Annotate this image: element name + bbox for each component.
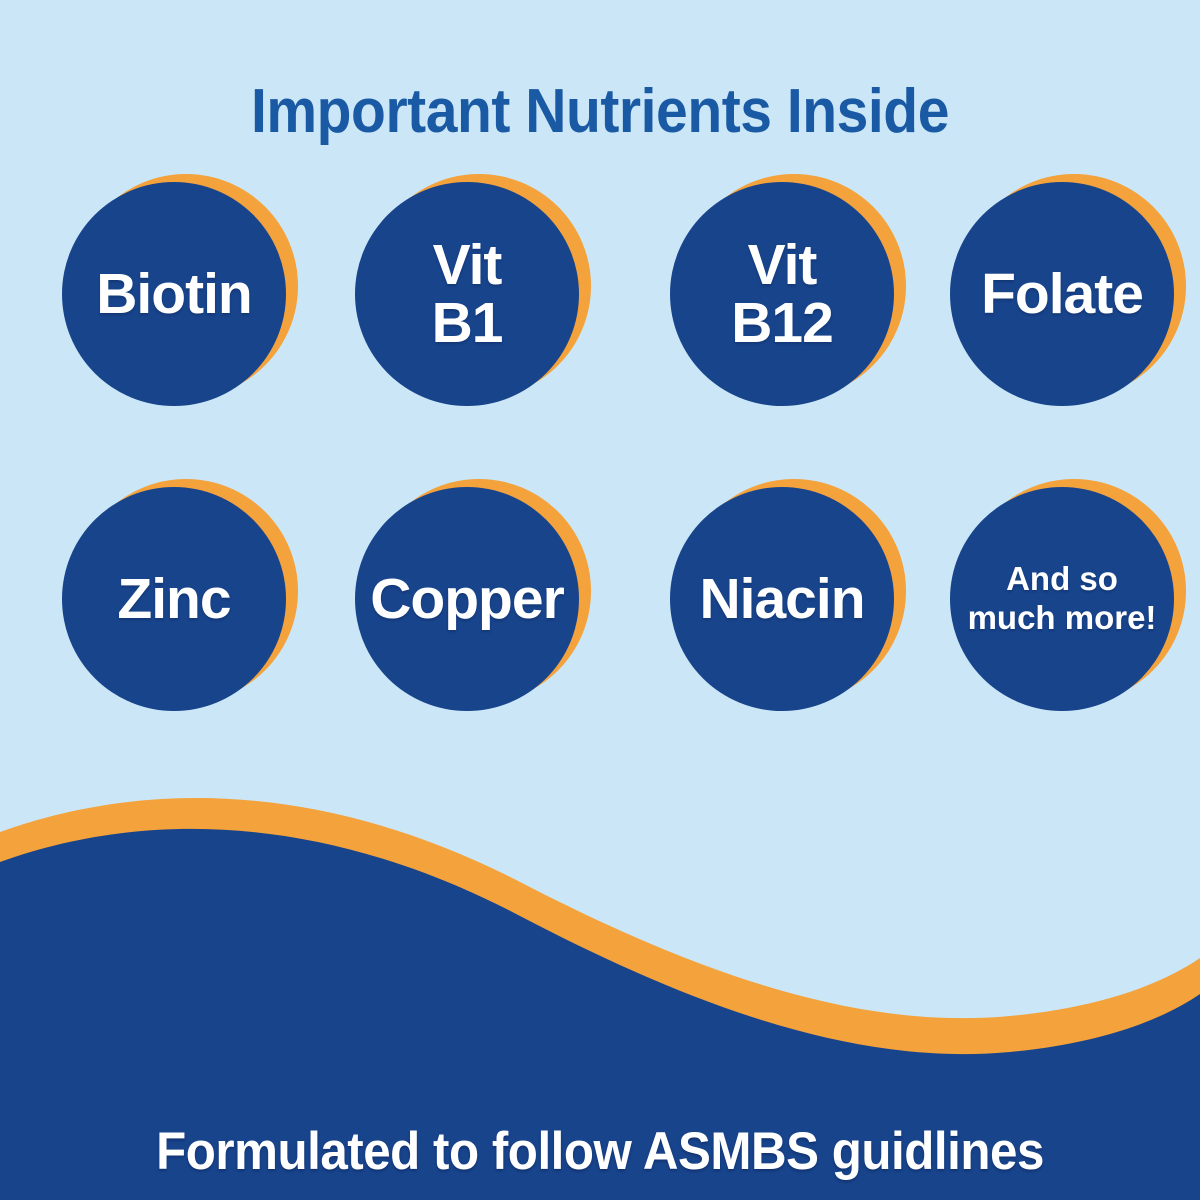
nutrient-infographic: Important Nutrients Inside Biotin Vit B1… (0, 0, 1200, 1200)
nutrient-bubble-biotin[interactable]: Biotin (62, 182, 286, 406)
nutrient-bubble-copper[interactable]: Copper (355, 487, 579, 711)
nutrient-bubble-vit-b1[interactable]: Vit B1 (355, 182, 579, 406)
nutrient-label: And so much more! (924, 487, 1200, 711)
nutrient-label: Niacin (644, 487, 920, 711)
nutrient-label: Folate (924, 182, 1200, 406)
nutrient-bubble-and-so-much-more[interactable]: And so much more! (950, 487, 1174, 711)
nutrient-bubble-vit-b12[interactable]: Vit B12 (670, 182, 894, 406)
nutrient-bubble-zinc[interactable]: Zinc (62, 487, 286, 711)
nutrient-row: Zinc Copper Niacin And so much more! (0, 487, 1200, 792)
nutrient-bubble-grid: Biotin Vit B1 Vit B12 Folate (0, 182, 1200, 792)
nutrient-bubble-folate[interactable]: Folate (950, 182, 1174, 406)
nutrient-label: Vit B1 (329, 182, 605, 406)
nutrient-label: Biotin (36, 182, 312, 406)
nutrient-label: Vit B12 (644, 182, 920, 406)
page-title: Important Nutrients Inside (48, 76, 1152, 147)
nutrient-bubble-niacin[interactable]: Niacin (670, 487, 894, 711)
nutrient-label: Zinc (36, 487, 312, 711)
nutrient-row: Biotin Vit B1 Vit B12 Folate (0, 182, 1200, 487)
footer-tagline: Formulated to follow ASMBS guidlines (42, 1121, 1158, 1182)
nutrient-label: Copper (329, 487, 605, 711)
